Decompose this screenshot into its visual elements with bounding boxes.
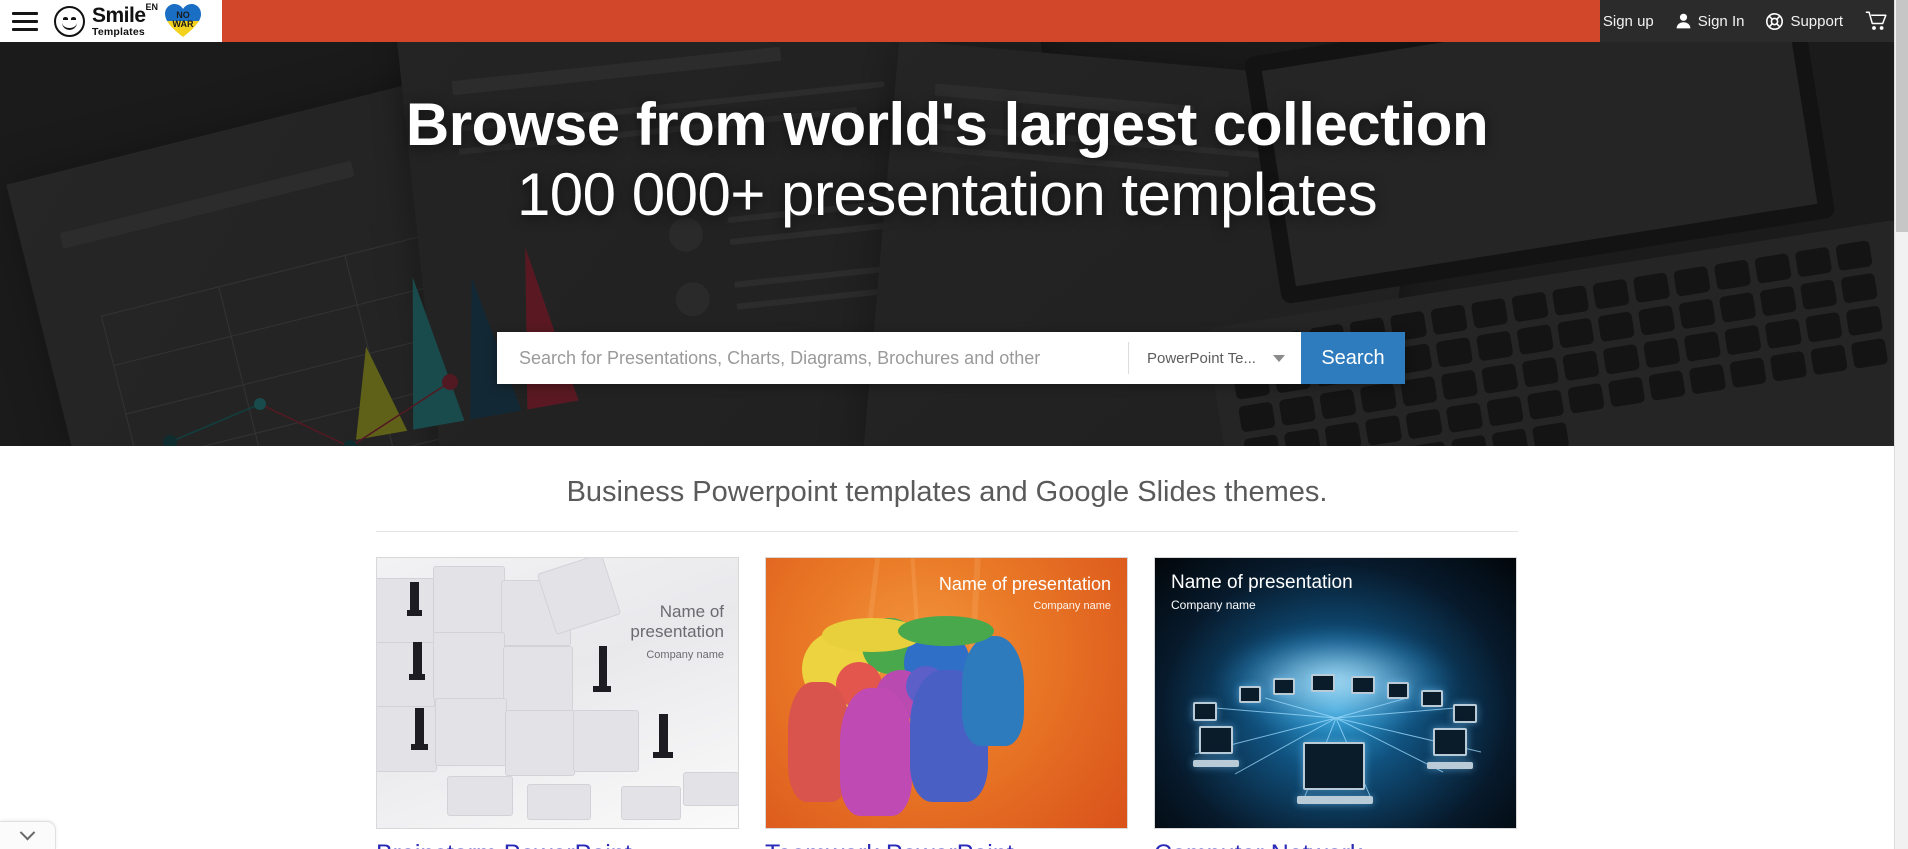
brainstorm-puzzle-thumbnail[interactable]: Name of presentation Company name [376,557,739,829]
header-nav: Sign up Sign In Support [1603,0,1888,42]
user-icon [1676,13,1691,29]
smiley-face-icon [54,6,85,37]
sign-in-label: Sign In [1698,13,1745,30]
hero-headline: Browse from world's largest collection 1… [0,42,1894,230]
lifebuoy-icon [1766,13,1783,30]
section-divider [376,531,1518,532]
thumbnail-heading-line2: presentation [630,622,724,642]
expand-panel-tab[interactable] [0,821,56,849]
thumbnail-subheading: Company name [1171,598,1353,612]
template-card: Name of presentation Company name Teamwo… [765,557,1128,849]
shopping-cart-icon[interactable] [1865,11,1888,31]
ukraine-heart-icon[interactable]: NO WAR [165,4,201,38]
teamwork-clay-figures-thumbnail[interactable]: Name of presentation Company name [765,557,1128,829]
page-root: SmileEN Templates NO WAR Sign up Sign In [0,0,1908,849]
scrollbar-thumb[interactable] [1896,0,1908,232]
hero-content: Browse from world's largest collection 1… [0,42,1894,446]
site-header: SmileEN Templates NO WAR Sign up Sign In [0,0,1908,42]
thumbnail-heading: Name of presentation [1171,572,1353,594]
computer-network-thumbnail[interactable]: Name of presentation Company name [1154,557,1517,829]
thumbnail-text-block: Name of presentation Company name [1171,572,1353,612]
hamburger-menu-icon[interactable] [10,0,40,42]
card-title-link[interactable]: Brainstorm PowerPoint [376,840,739,849]
logo-block[interactable]: SmileEN Templates NO WAR [0,0,222,42]
brand-language-code: EN [146,2,159,12]
sign-in-link[interactable]: Sign In [1676,13,1745,30]
sign-up-link[interactable]: Sign up [1603,13,1654,30]
templates-section: Business Powerpoint templates and Google… [0,446,1894,849]
thumbnail-subheading: Company name [939,600,1111,612]
thumbnail-heading: Name of presentation [939,574,1111,595]
template-card: Name of presentation Company name Comput… [1154,557,1517,849]
sign-up-label: Sign up [1603,13,1654,30]
header-orange-band [0,0,1600,42]
card-title-link[interactable]: Teamwork PowerPoint [765,840,1128,849]
brand-name: Smile [92,4,146,27]
page-scrollbar[interactable] [1894,0,1908,849]
chevron-down-icon [20,825,36,841]
thumbnail-subheading: Company name [630,649,724,661]
section-title: Business Powerpoint templates and Google… [0,446,1894,531]
nowar-line2: WAR [173,20,194,29]
thumbnail-heading-line1: Name of [630,602,724,622]
hero-banner: Browse from world's largest collection 1… [0,42,1894,446]
brand-subtitle: Templates [92,27,158,38]
template-card-grid: Name of presentation Company name Brains… [376,557,1518,849]
template-card: Name of presentation Company name Brains… [376,557,739,849]
hero-headline-line1: Browse from world's largest collection [406,91,1488,158]
support-link[interactable]: Support [1766,13,1843,30]
card-title-link[interactable]: Computer Network [1154,840,1517,849]
support-label: Support [1790,13,1843,30]
brand-wordmark: SmileEN Templates [92,5,158,38]
hero-headline-line2: 100 000+ presentation templates [0,160,1894,230]
thumbnail-text-block: Name of presentation Company name [630,602,724,661]
thumbnail-text-block: Name of presentation Company name [939,574,1111,612]
